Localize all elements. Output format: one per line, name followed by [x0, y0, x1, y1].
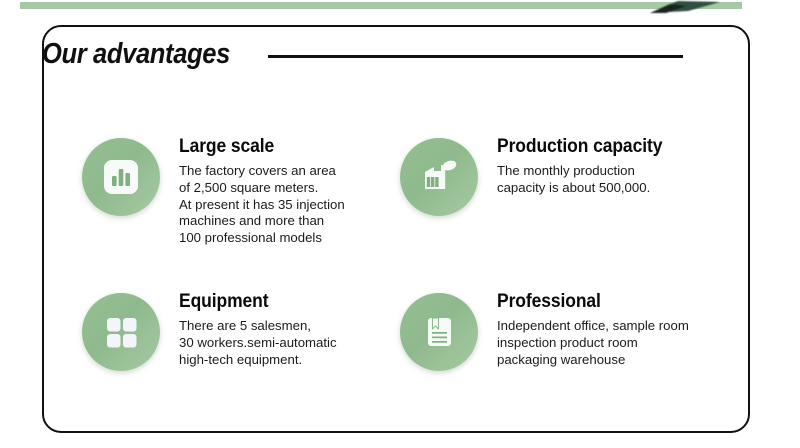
feature-item-professional: Professional Independent office, sample … — [396, 285, 738, 375]
bar-chart-icon — [82, 138, 160, 216]
feature-icon-wrapper — [396, 134, 482, 220]
feature-title: Large scale — [179, 136, 331, 158]
features-grid: Large scale The factory covers an area o… — [78, 130, 738, 375]
feature-text-block: Equipment There are 5 salesmen, 30 worke… — [164, 285, 337, 368]
page-title: Our advantages — [42, 38, 230, 71]
feature-icon-wrapper — [78, 134, 164, 220]
feature-item-large-scale: Large scale The factory covers an area o… — [78, 130, 396, 285]
feature-icon-wrapper — [78, 289, 164, 375]
feature-description: Independent office, sample room inspecti… — [497, 318, 689, 368]
feature-item-production-capacity: Production capacity The monthly producti… — [396, 130, 738, 285]
feature-description: The factory covers an area of 2,500 squa… — [179, 163, 345, 247]
feature-description: There are 5 salesmen, 30 workers.semi-au… — [179, 318, 337, 368]
feature-text-block: Production capacity The monthly producti… — [482, 130, 677, 197]
feature-item-equipment: Equipment There are 5 salesmen, 30 worke… — [78, 285, 396, 375]
feature-title: Equipment — [179, 291, 324, 313]
document-bookmark-icon — [400, 293, 478, 371]
heading-divider — [268, 55, 683, 58]
feature-icon-wrapper — [396, 289, 482, 375]
feature-text-block: Large scale The factory covers an area o… — [164, 130, 345, 247]
feature-title: Professional — [497, 291, 673, 313]
feature-title: Production capacity — [497, 136, 662, 158]
factory-icon — [400, 138, 478, 216]
feature-description: The monthly production capacity is about… — [497, 163, 677, 197]
grid-squares-icon — [82, 293, 160, 371]
top-accent-band — [20, 2, 742, 9]
feature-text-block: Professional Independent office, sample … — [482, 285, 689, 368]
section-heading: Our advantages — [42, 32, 780, 76]
